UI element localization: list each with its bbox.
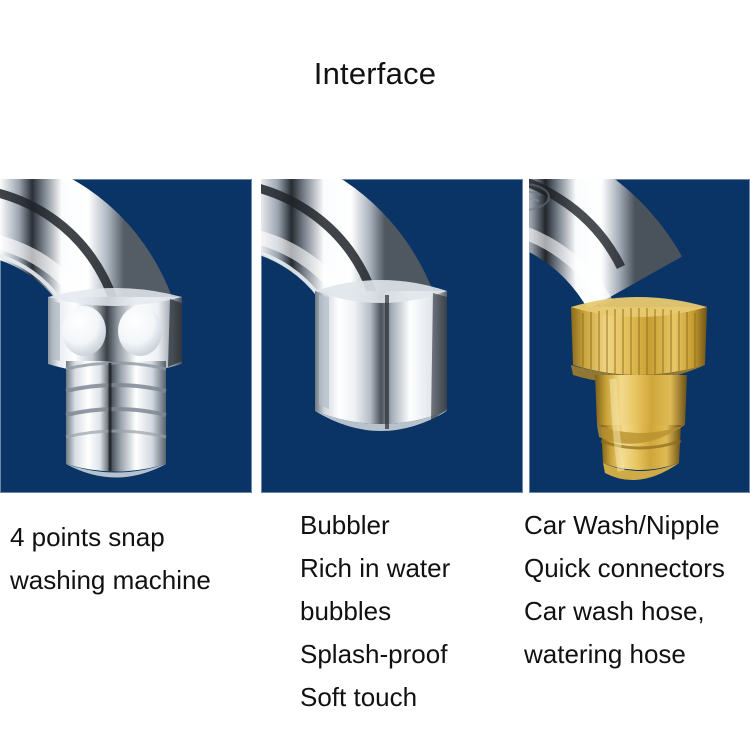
caption-line: Rich in water [300, 547, 450, 590]
caption-line: Splash-proof [300, 633, 450, 676]
product-feature-image: Interface [0, 0, 750, 750]
caption-line: washing machine [10, 559, 211, 602]
product-photo-panel-four-point-snap [0, 179, 252, 493]
product-photo-panel-bubbler [261, 179, 523, 493]
caption-bubbler: Bubbler Rich in water bubbles Splash-pro… [300, 504, 450, 719]
page-title: Interface [0, 55, 750, 93]
faucet-illustration-bubbler [261, 179, 523, 493]
caption-line: Quick connectors [524, 547, 725, 590]
caption-line: Bubbler [300, 504, 450, 547]
caption-line: Car Wash/Nipple [524, 504, 725, 547]
panel-divider-1 [252, 179, 261, 493]
caption-line: 4 points snap [10, 516, 211, 559]
faucet-illustration-brass-nipple [529, 179, 750, 493]
panel-row [0, 179, 750, 493]
product-photo-panel-car-wash-nipple [529, 179, 750, 493]
faucet-illustration-snap [0, 179, 252, 493]
caption-line: Car wash hose, [524, 590, 725, 633]
caption-line: bubbles [300, 590, 450, 633]
caption-four-point-snap: 4 points snap washing machine [10, 516, 211, 602]
caption-line: watering hose [524, 633, 725, 676]
caption-line: Soft touch [300, 676, 450, 719]
caption-car-wash-nipple: Car Wash/Nipple Quick connectors Car was… [524, 504, 725, 676]
